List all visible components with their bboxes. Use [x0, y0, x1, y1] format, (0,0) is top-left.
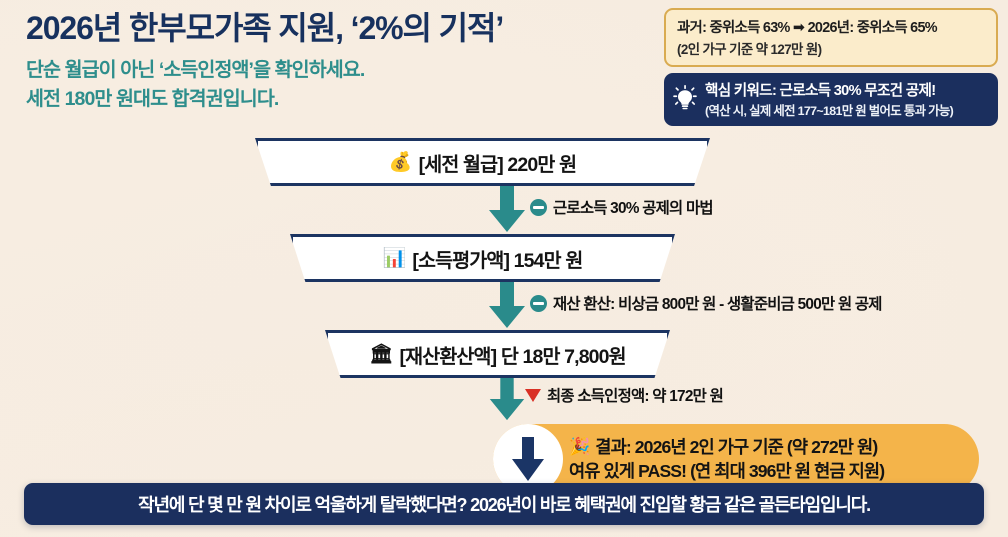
down-arrow-icon: [487, 378, 527, 422]
party-popper-icon: 🎉: [569, 435, 589, 458]
red-triangle-down-icon: [525, 389, 541, 402]
median-income-badge-line-1: 과거: 중위소득 63% ➡ 2026년: 중위소득 65%: [677, 16, 986, 37]
flow-step-asset-conversion: 🏛 [재산환산액] 단 18만 7,800원: [325, 330, 670, 378]
minus-circle-icon: [530, 199, 547, 216]
header: 2026년 한부모가족 지원, ‘2%의 기적’ 단순 월급이 아닌 ‘소득인정…: [26, 10, 666, 115]
result-text: 🎉 결과: 2026년 2인 가구 기준 (약 272만 원) 여유 있게 PA…: [569, 435, 884, 484]
subtitle-line-1: 단순 월급이 아닌 ‘소득인정액’을 확인하세요.: [26, 56, 666, 86]
bar-chart-icon: 📊: [383, 249, 406, 268]
median-income-badge: 과거: 중위소득 63% ➡ 2026년: 중위소득 65% (2인 가구 기준…: [664, 8, 998, 67]
key-keyword-badge: 핵심 키워드: 근로소득 30% 무조건 공제! (역산 시, 실제 세전 17…: [664, 73, 998, 126]
flow-connector-2: 재산 환산: 비상금 800만 원 - 생활준비금 500만 원 공제: [0, 282, 1008, 330]
infographic-page: 2026년 한부모가족 지원, ‘2%의 기적’ 단순 월급이 아닌 ‘소득인정…: [0, 0, 1008, 537]
flow-step-row: 📊 [소득평가액] 154만 원: [0, 234, 1008, 282]
connector-label-text: 근로소득 30% 공제의 마법: [553, 196, 713, 218]
flow-step-label: [세전 월급] 220만 원: [419, 148, 577, 177]
bottom-banner: 작년에 단 몇 만 원 차이로 억울하게 탈락했다면? 2026년이 바로 혜택…: [24, 483, 984, 525]
flow-step-label: [소득평가액] 154만 원: [412, 244, 582, 273]
page-title: 2026년 한부모가족 지원, ‘2%의 기적’: [26, 10, 666, 48]
down-arrow-icon: [511, 437, 545, 481]
bottom-banner-text: 작년에 단 몇 만 원 차이로 억울하게 탈락했다면? 2026년이 바로 혜택…: [138, 491, 870, 517]
subtitle-line-2: 세전 180만 원대도 합격권입니다.: [26, 85, 666, 115]
lightbulb-icon: [672, 85, 698, 113]
down-arrow-icon: [487, 186, 527, 232]
subtitle-block: 단순 월급이 아닌 ‘소득인정액’을 확인하세요. 세전 180만 원대도 합격…: [26, 56, 666, 115]
key-keyword-badge-line-2: (역산 시, 실제 세전 177~181만 원 벌어도 통과 가능): [705, 101, 953, 119]
result-line-1: 🎉 결과: 2026년 2인 가구 기준 (약 272만 원): [569, 435, 884, 459]
flow-connector-label-1: 근로소득 30% 공제의 마법: [530, 196, 713, 218]
calculation-flow-diagram: 💰 [세전 월급] 220만 원 근로소득 30% 공제의 마법 📊 [소득평가…: [0, 138, 1008, 496]
flow-step-label: [재산환산액] 단 18만 7,800원: [400, 340, 626, 369]
flow-connector-1: 근로소득 30% 공제의 마법: [0, 186, 1008, 234]
minus-circle-icon: [530, 295, 547, 312]
key-keyword-badge-text: 핵심 키워드: 근로소득 30% 무조건 공제! (역산 시, 실제 세전 17…: [705, 79, 953, 119]
info-badge-group: 과거: 중위소득 63% ➡ 2026년: 중위소득 65% (2인 가구 기준…: [664, 8, 998, 126]
connector-label-text: 재산 환산: 비상금 800만 원 - 생활준비금 500만 원 공제: [553, 292, 882, 314]
down-arrow-icon: [487, 282, 527, 328]
money-bag-icon: 💰: [389, 153, 412, 172]
connector-label-text: 최종 소득인정액: 약 172만 원: [547, 384, 723, 406]
result-line-2: 여유 있게 PASS! (연 최대 396만 원 현금 지원): [569, 459, 884, 483]
flow-step-row: 🏛 [재산환산액] 단 18만 7,800원: [0, 330, 1008, 378]
median-income-badge-line-2: (2인 가구 기준 약 127만 원): [677, 38, 986, 58]
flow-connector-label-3: 최종 소득인정액: 약 172만 원: [525, 384, 723, 406]
flow-step-row: 💰 [세전 월급] 220만 원: [0, 138, 1008, 186]
bank-icon: 🏛: [369, 345, 392, 364]
flow-connector-3: 최종 소득인정액: 약 172만 원: [0, 378, 1008, 422]
result-line-1-text: 결과: 2026년 2인 가구 기준 (약 272만 원): [595, 435, 877, 459]
flow-step-income-assessment: 📊 [소득평가액] 154만 원: [290, 234, 675, 282]
key-keyword-badge-line-1: 핵심 키워드: 근로소득 30% 무조건 공제!: [705, 79, 953, 100]
flow-step-gross-salary: 💰 [세전 월급] 220만 원: [255, 138, 710, 186]
flow-connector-label-2: 재산 환산: 비상금 800만 원 - 생활준비금 500만 원 공제: [530, 292, 882, 314]
